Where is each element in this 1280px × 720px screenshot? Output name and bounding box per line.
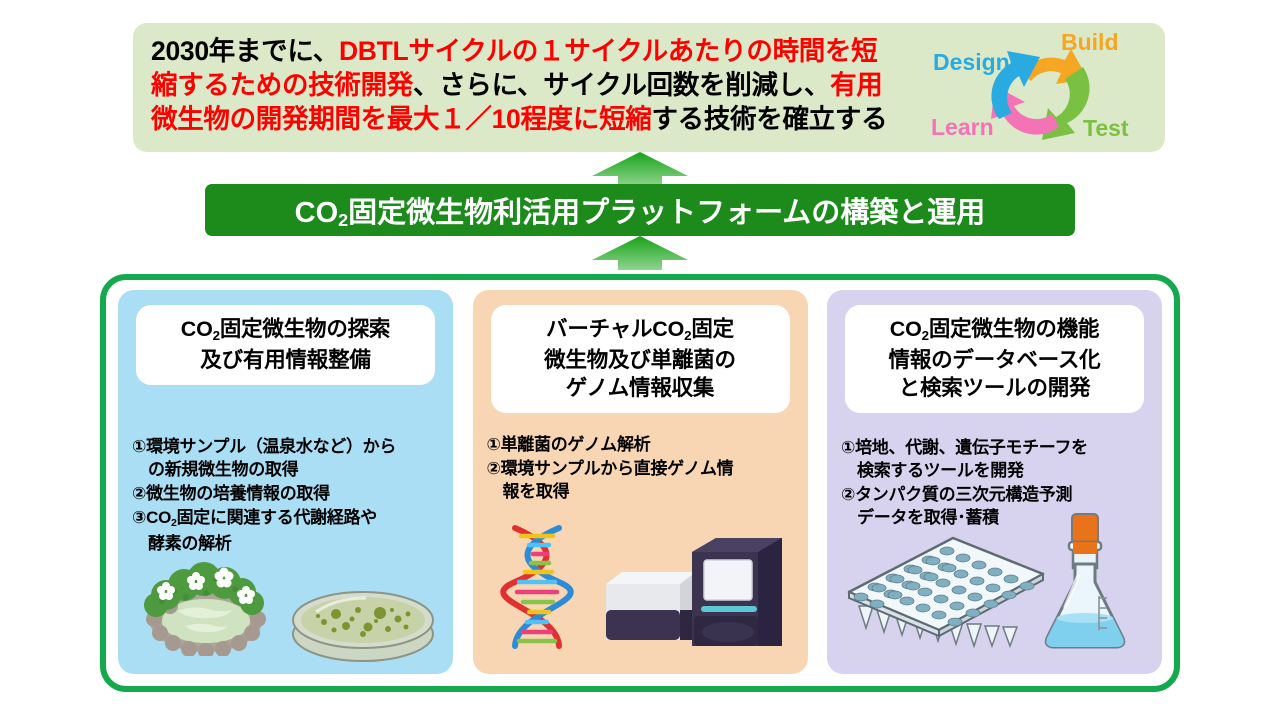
p3-bullet-2-main: ②タンパク質の三次元構造予測 (841, 485, 1072, 504)
p2-bullet-2-main: ②環境サンプルから直接ゲノム情 (487, 459, 734, 478)
up-arrow-to-goal-icon (592, 152, 688, 186)
hot-spring-icon (140, 561, 272, 656)
p1-bullet-2: ②微生物の培養情報の取得 (132, 482, 443, 505)
dna-helix-icon (497, 524, 577, 650)
platform-title-text: CO2固定微生物利活用プラットフォームの構築と運用 (295, 189, 986, 231)
platform-title-post: 固定微生物利活用プラットフォームの構築と運用 (348, 197, 985, 229)
p3-title-line2: 情報のデータベース化 (889, 348, 1101, 372)
p3-bullet-1-cont: 検索するツールを開発 (841, 459, 1152, 482)
dbtl-label-test: Test (1083, 115, 1129, 142)
p3-bullet-1: ①培地、代謝、遺伝子モチーフを 検索するツールを開発 (841, 436, 1152, 482)
dbtl-label-learn: Learn (931, 114, 994, 141)
p3-bullet-1-main: ①培地、代謝、遺伝子モチーフを (841, 438, 1088, 457)
p1-bullet-1: ①環境サンプル（温泉水など）から の新規微生物の取得 (132, 435, 443, 481)
panel-database-illustrations (827, 520, 1162, 670)
panel-database-title-box: CO2固定微生物の機能 情報のデータベース化 と検索ツールの開発 (845, 305, 1144, 413)
well-plate-icon (835, 532, 1050, 652)
panel-exploration[interactable]: CO2固定微生物の探索 及び有用情報整備 ①環境サンプル（温泉水など）から の新… (118, 290, 453, 674)
panel-exploration-title: CO2固定微生物の探索 及び有用情報整備 (142, 315, 429, 374)
p2-title-sub: 2 (684, 328, 691, 343)
p1-bullet-1-main: ①環境サンプル（温泉水など）から (132, 437, 396, 456)
panel-genome-title: バーチャルCO2固定 微生物及び単離菌の ゲノム情報収集 (497, 315, 784, 402)
panel-database[interactable]: CO2固定微生物の機能 情報のデータベース化 と検索ツールの開発 ①培地、代謝、… (827, 290, 1162, 674)
p2-title-pre: バーチャルCO (546, 317, 684, 341)
goal-line2-seg3: 有用 (830, 70, 882, 100)
platform-title-pre: CO (295, 197, 339, 229)
panel-genome-title-box: バーチャルCO2固定 微生物及び単離菌の ゲノム情報収集 (491, 305, 790, 413)
goal-line-1: 2030年までに、DBTLサイクルの１サイクルあたりの時間を短 (151, 34, 946, 68)
goal-line1-seg2: DBTLサイクルの１サイクルあたりの時間を短 (339, 36, 877, 66)
goal-line2-seg1: 縮するための技術開発 (151, 70, 413, 100)
goal-line1-seg1: 2030年までに、 (151, 36, 339, 66)
p2-bullet-1-main: ①単離菌のゲノム解析 (487, 435, 651, 454)
p1-title-post: 固定微生物の探索 (220, 317, 390, 341)
goal-line3-seg2: する技術を確立する (651, 104, 887, 134)
p3-title-post: 固定微生物の機能 (929, 317, 1099, 341)
p3-title-pre: CO (890, 317, 922, 341)
panel-database-title: CO2固定微生物の機能 情報のデータベース化 と検索ツールの開発 (851, 315, 1138, 402)
goal-line-2: 縮するための技術開発、さらに、サイクル回数を削減し、有用 (151, 68, 946, 102)
panel-genome-bullets: ①単離菌のゲノム解析 ②環境サンプルから直接ゲノム情 報を取得 (487, 433, 798, 504)
platform-title-banner: CO2固定微生物利活用プラットフォームの構築と運用 (205, 184, 1075, 236)
goal-line3-seg1: 微生物の開発期間を最大１／10程度に短縮 (151, 104, 651, 134)
p1-bullet-2-main: ②微生物の培養情報の取得 (132, 484, 330, 503)
p2-title-post: 固定 (691, 317, 734, 341)
goal-line2-seg2: 、さらに、サイクル回数を削減し、 (413, 70, 830, 100)
goal-statement-text: 2030年までに、DBTLサイクルの１サイクルあたりの時間を短 縮するための技術… (151, 34, 946, 136)
goal-line-3: 微生物の開発期間を最大１／10程度に短縮する技術を確立する (151, 102, 946, 136)
platform-title-sub: 2 (338, 210, 348, 230)
panels-container: CO2固定微生物の探索 及び有用情報整備 ①環境サンプル（温泉水など）から の新… (118, 290, 1162, 674)
dbtl-label-build: Build (1061, 29, 1119, 56)
p2-title-line3: ゲノム情報収集 (566, 376, 714, 400)
petri-dish-icon (288, 572, 438, 664)
p1-title-line2: 及び有用情報整備 (200, 348, 370, 372)
panel-exploration-illustrations (118, 520, 453, 670)
p3-title-sub: 2 (922, 328, 929, 343)
p2-bullet-2-cont: 報を取得 (487, 480, 798, 503)
dbtl-cycle-diagram: Design Build Test Learn (925, 27, 1157, 151)
p2-bullet-1: ①単離菌のゲノム解析 (487, 433, 798, 456)
dbtl-label-design: Design (933, 49, 1010, 76)
goal-statement-banner: 2030年までに、DBTLサイクルの１サイクルあたりの時間を短 縮するための技術… (133, 23, 1165, 152)
p1-title-sub: 2 (213, 328, 220, 343)
panel-genome[interactable]: バーチャルCO2固定 微生物及び単離菌の ゲノム情報収集 ①単離菌のゲノム解析 … (473, 290, 808, 674)
up-arrow-to-platform-icon (592, 236, 688, 270)
sequencer-icon (588, 522, 788, 662)
p1-title-pre: CO (181, 317, 213, 341)
p2-title-line2: 微生物及び単離菌の (544, 348, 736, 372)
p1-bullet-1-cont: の新規微生物の取得 (132, 458, 443, 481)
panel-exploration-title-box: CO2固定微生物の探索 及び有用情報整備 (136, 305, 435, 385)
p3-title-line3: と検索ツールの開発 (899, 376, 1091, 400)
p2-bullet-2: ②環境サンプルから直接ゲノム情 報を取得 (487, 457, 798, 503)
panel-genome-illustrations (473, 520, 808, 670)
erlenmeyer-flask-icon (1035, 512, 1135, 660)
